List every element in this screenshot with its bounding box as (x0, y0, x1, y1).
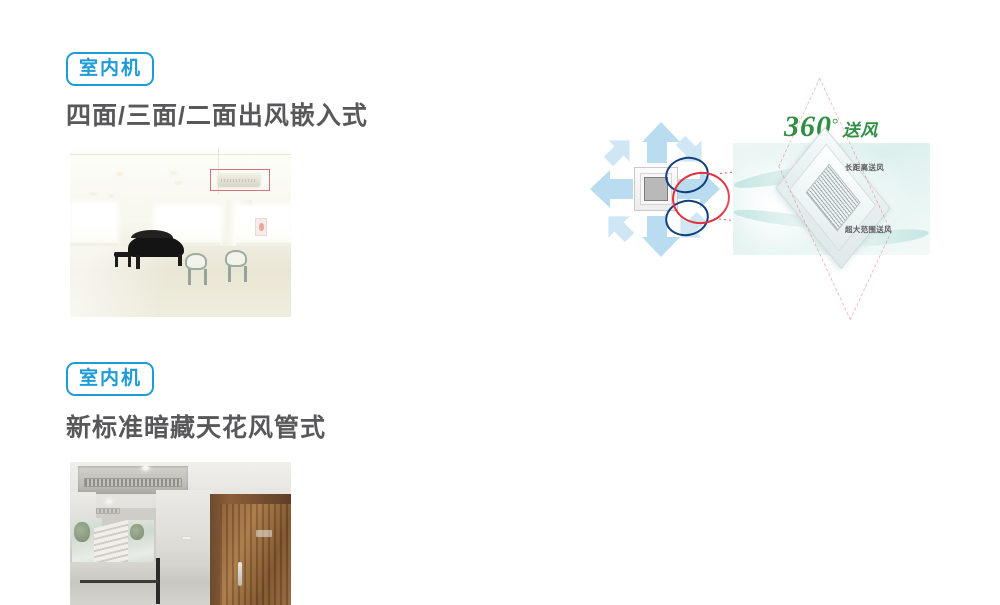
photo-piano-room (70, 148, 291, 317)
airflow-arrow-up (642, 122, 680, 142)
airflow-arrow-left (590, 170, 610, 208)
section-badge-indoor-unit-2: 室内机 (66, 362, 154, 396)
section-heading-2: 新标准暗藏天花风管式 (66, 416, 326, 441)
downlight (142, 466, 149, 470)
outdoor-tree (130, 524, 144, 540)
wooden-door (220, 504, 291, 605)
bench-leg (128, 256, 131, 267)
downlight (108, 194, 115, 198)
downlight (170, 171, 177, 175)
airflow-arrow-up-shaft (647, 141, 667, 163)
highlight-box-red (210, 169, 270, 191)
door-number-plate (256, 530, 272, 537)
corridor-scene (70, 462, 291, 605)
downlight (116, 172, 123, 176)
chair (225, 250, 247, 267)
photo-corridor (70, 462, 291, 605)
ceiling-cassette-panel (733, 143, 930, 255)
piano-room-scene (70, 148, 291, 317)
section-badge-indoor-unit-1: 室内机 (66, 52, 154, 86)
chair (185, 253, 207, 270)
airflow-360-diagram: 360°送风 (580, 100, 960, 280)
small-diffuser (94, 508, 120, 514)
wall-picture (255, 218, 267, 236)
outdoor-tree (74, 522, 90, 542)
airflow-arrow-left-shaft (609, 179, 633, 199)
ceiling-seam (70, 154, 291, 155)
window-left (72, 204, 116, 244)
chair-leg (228, 266, 231, 282)
airflow-arrow-up-left (598, 130, 640, 172)
downlight (106, 500, 112, 503)
callout-label-long-distance: 长距离送风 (845, 162, 884, 173)
bench-leg (115, 256, 118, 267)
piano-leg (136, 255, 140, 269)
section-heading-1: 四面/三面/二面出风嵌入式 (66, 104, 368, 129)
airflow-arrow-down-left (598, 206, 640, 248)
downlight (90, 192, 97, 196)
callout-label-wide-range: 超大范围送风 (845, 224, 892, 235)
piano-leg (178, 254, 182, 266)
chair-leg (188, 269, 191, 285)
cassette-grille (644, 177, 668, 201)
handrail-bar (80, 580, 158, 583)
chair-leg (244, 266, 247, 282)
door-handle (238, 562, 242, 586)
page-root: 室内机 四面/三面/二面出风嵌入式 (0, 0, 1000, 605)
concealed-duct-outlet (84, 478, 182, 487)
airflow-arrow-down (642, 237, 680, 257)
chair-leg (204, 269, 207, 285)
light-switch (182, 536, 191, 540)
downlight (175, 181, 182, 185)
